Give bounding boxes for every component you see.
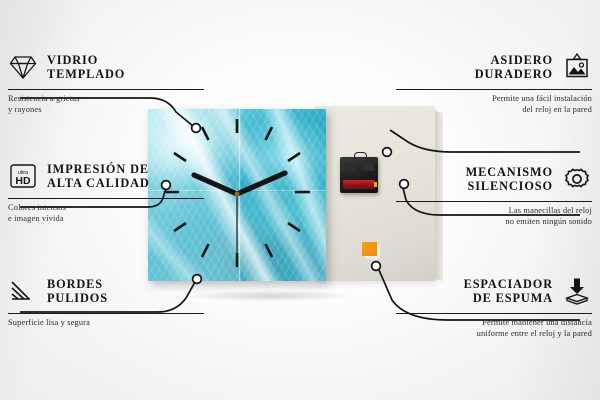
feature-description: Las manecillas del reloj no emiten ningú… [396, 206, 592, 227]
feature-title: IMPRESIÓN DE ALTA CALIDAD [47, 162, 150, 191]
feature-description: Permite mantener una distancia uniforme … [396, 318, 592, 339]
divider [8, 89, 204, 90]
desc-line: uniforme entre el reloj y la pared [396, 329, 592, 340]
title-line: MECANISMO [466, 165, 553, 180]
desc-line: Colores intensos [8, 203, 204, 214]
desc-line: Superficie lisa y segura [8, 318, 204, 329]
feature-title: ASIDERO DURADERO [475, 53, 553, 82]
feature-header: VIDRIO TEMPLADO [8, 48, 204, 86]
divider [396, 89, 592, 90]
title-line: TEMPLADO [47, 67, 125, 82]
feature-vidrio-templado: VIDRIO TEMPLADO Resistencia a grietas y … [8, 48, 204, 115]
desc-line: Permite mantener una distancia [396, 318, 592, 329]
feature-description: Superficie lisa y segura [8, 318, 204, 329]
svg-text:HD: HD [15, 175, 31, 187]
title-line: DURADERO [475, 67, 553, 82]
feature-header: ESPACIADOR DE ESPUMA [396, 272, 592, 310]
title-line: IMPRESIÓN DE [47, 162, 150, 177]
divider [8, 313, 204, 314]
polished-edges-icon [8, 276, 38, 306]
ultra-hd-icon: ultra HD [8, 161, 38, 191]
title-line: ASIDERO [475, 53, 553, 68]
feature-mecanismo-silencioso: MECANISMO SILENCIOSO Las manecillas del … [396, 160, 592, 227]
title-line: ESPACIADOR [464, 277, 553, 292]
feature-header: ASIDERO DURADERO [396, 48, 592, 86]
desc-line: y rayones [8, 105, 204, 116]
title-line: DE ESPUMA [464, 291, 553, 306]
battery [343, 180, 375, 189]
feature-title: ESPACIADOR DE ESPUMA [464, 277, 553, 306]
feature-bordes-pulidos: BORDES PULIDOS Superficie lisa y segura [8, 272, 204, 329]
desc-line: no emiten ningún sonido [396, 217, 592, 228]
mechanism-detail [344, 162, 356, 171]
framed-picture-hook-icon [562, 52, 592, 82]
foam-spacer [362, 242, 377, 256]
feature-title: BORDES PULIDOS [47, 277, 108, 306]
feature-title: VIDRIO TEMPLADO [47, 53, 125, 82]
divider [396, 313, 592, 314]
feature-title: MECANISMO SILENCIOSO [466, 165, 553, 194]
gear-icon [562, 164, 592, 194]
feature-header: MECANISMO SILENCIOSO [396, 160, 592, 198]
title-line: VIDRIO [47, 53, 125, 68]
feature-header: ultra HD IMPRESIÓN DE ALTA CALIDAD [8, 157, 204, 195]
foam-spacer-arrow-icon [562, 276, 592, 306]
divider [396, 201, 592, 202]
desc-line: del reloj en la pared [396, 105, 592, 116]
feature-description: Resistencia a grietas y rayones [8, 94, 204, 115]
feature-description: Permite una fácil instalación del reloj … [396, 94, 592, 115]
desc-line: Resistencia a grietas [8, 94, 204, 105]
product-infographic: VIDRIO TEMPLADO Resistencia a grietas y … [0, 0, 600, 400]
feature-header: BORDES PULIDOS [8, 272, 204, 310]
feature-asidero-duradero: ASIDERO DURADERO Permite una fácil insta… [396, 48, 592, 115]
title-line: ALTA CALIDAD [47, 176, 150, 191]
feature-description: Colores intensos e imagen vívida [8, 203, 204, 224]
feature-impresion-alta-calidad: ultra HD IMPRESIÓN DE ALTA CALIDAD Color… [8, 157, 204, 224]
divider [8, 198, 204, 199]
clock-mechanism [340, 157, 378, 193]
title-line: SILENCIOSO [466, 179, 553, 194]
desc-line: Permite una fácil instalación [396, 94, 592, 105]
desc-line: e imagen vívida [8, 214, 204, 225]
hanging-hook-icon [354, 152, 367, 160]
desc-line: Las manecillas del reloj [396, 206, 592, 217]
feature-espaciador-de-espuma: ESPACIADOR DE ESPUMA Permite mantener un… [396, 272, 592, 339]
title-line: PULIDOS [47, 291, 108, 306]
mechanism-detail [363, 162, 374, 171]
diamond-icon [8, 52, 38, 82]
title-line: BORDES [47, 277, 108, 292]
